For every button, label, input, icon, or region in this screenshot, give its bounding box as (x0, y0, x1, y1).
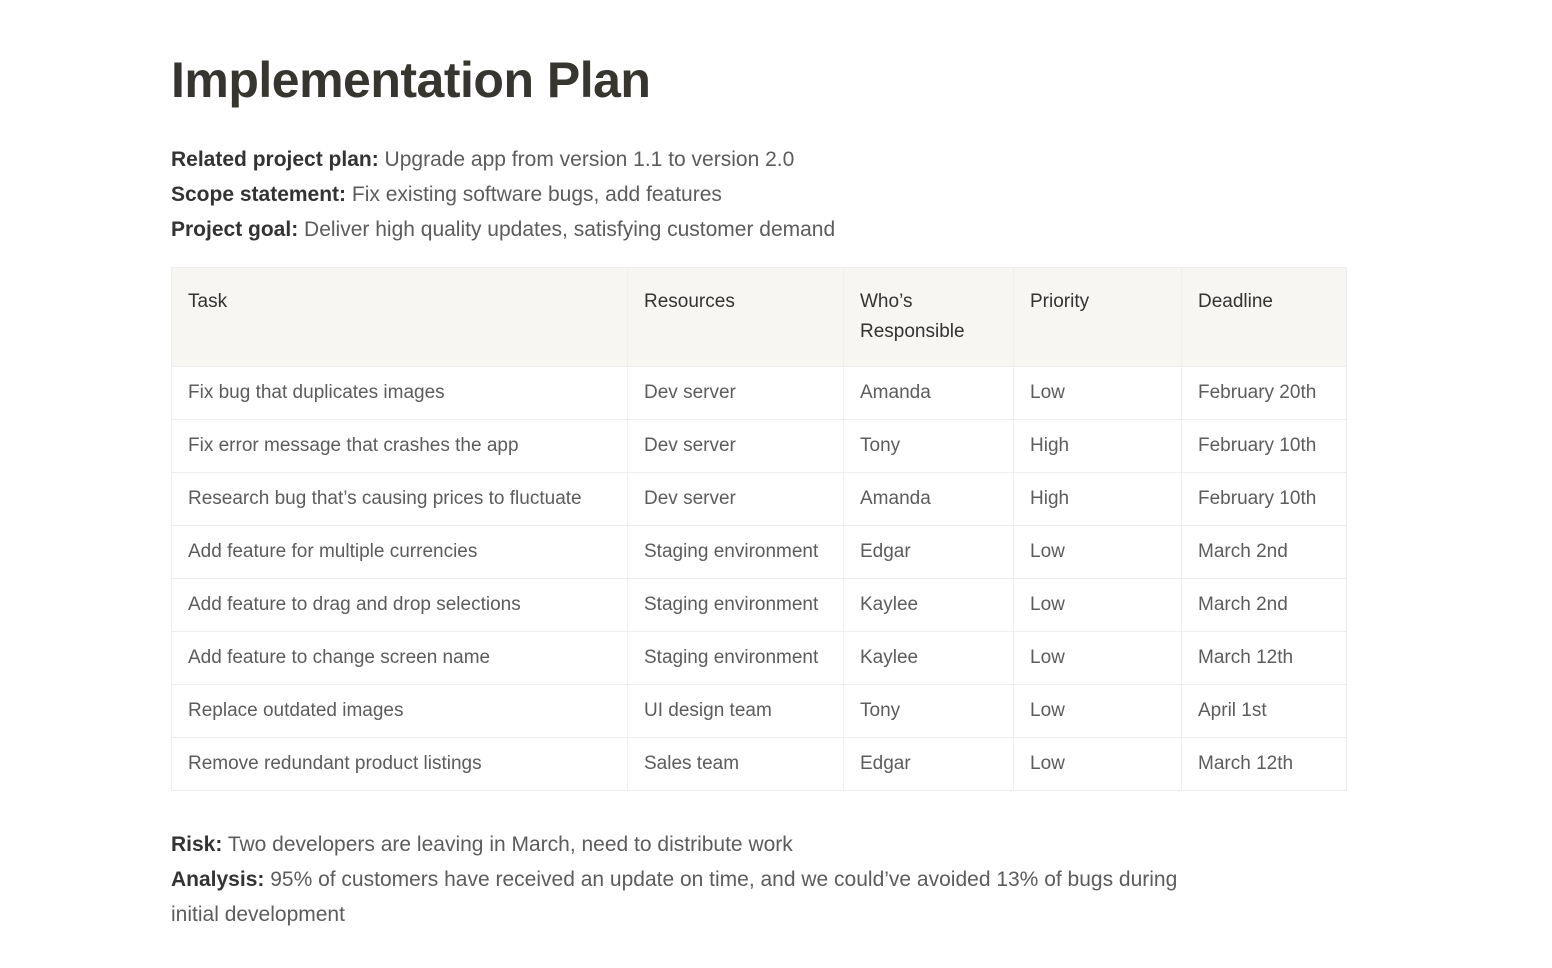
table-row: Remove redundant product listings Sales … (172, 738, 1347, 791)
cell-deadline: February 10th (1182, 420, 1347, 473)
meta-value-scope-statement: Fix existing software bugs, add features (352, 183, 722, 206)
cell-priority: Low (1014, 632, 1182, 685)
cell-deadline: March 12th (1182, 632, 1347, 685)
document-content: Implementation Plan Related project plan… (171, 52, 1411, 932)
table-header-row: Task Resources Who’s Responsible Priorit… (172, 268, 1347, 367)
cell-priority: Low (1014, 738, 1182, 791)
cell-deadline: April 1st (1182, 685, 1347, 738)
cell-resources: UI design team (628, 685, 844, 738)
column-header-deadline: Deadline (1182, 268, 1347, 367)
cell-responsible: Kaylee (844, 632, 1014, 685)
cell-task: Fix error message that crashes the app (172, 420, 628, 473)
column-header-resources-label: Resources (644, 287, 843, 317)
cell-task: Add feature to drag and drop selections (172, 579, 628, 632)
table-row: Add feature to drag and drop selections … (172, 579, 1347, 632)
table-row: Research bug that’s causing prices to fl… (172, 473, 1347, 526)
meta-label-related-project-plan: Related project plan: (171, 148, 379, 171)
table-row: Add feature to change screen name Stagin… (172, 632, 1347, 685)
cell-responsible: Kaylee (844, 579, 1014, 632)
cell-responsible: Amanda (844, 473, 1014, 526)
cell-resources: Staging environment (628, 526, 844, 579)
cell-task: Add feature for multiple currencies (172, 526, 628, 579)
document-notes-block: Risk: Two developers are leaving in Marc… (171, 827, 1216, 932)
cell-resources: Staging environment (628, 579, 844, 632)
cell-priority: Low (1014, 685, 1182, 738)
table-row: Fix error message that crashes the app D… (172, 420, 1347, 473)
cell-deadline: March 2nd (1182, 526, 1347, 579)
meta-value-related-project-plan: Upgrade app from version 1.1 to version … (385, 148, 795, 171)
cell-resources: Sales team (628, 738, 844, 791)
meta-label-scope-statement: Scope statement: (171, 183, 346, 206)
cell-task: Add feature to change screen name (172, 632, 628, 685)
table-row: Replace outdated images UI design team T… (172, 685, 1347, 738)
cell-responsible: Tony (844, 685, 1014, 738)
note-value-risk: Two developers are leaving in March, nee… (228, 833, 793, 856)
cell-deadline: March 2nd (1182, 579, 1347, 632)
meta-value-project-goal: Deliver high quality updates, satisfying… (304, 218, 835, 241)
note-label-analysis: Analysis: (171, 868, 264, 891)
column-header-priority: Priority (1014, 268, 1182, 367)
cell-task: Replace outdated images (172, 685, 628, 738)
column-header-whos-responsible-label: Who’s Responsible (860, 287, 1013, 347)
note-line-analysis: Analysis: 95% of customers have received… (171, 862, 1216, 932)
cell-resources: Dev server (628, 473, 844, 526)
meta-line-related-project-plan: Related project plan: Upgrade app from v… (171, 142, 1411, 177)
page-title: Implementation Plan (171, 52, 1411, 108)
cell-resources: Dev server (628, 420, 844, 473)
cell-deadline: February 20th (1182, 367, 1347, 420)
note-line-risk: Risk: Two developers are leaving in Marc… (171, 827, 1216, 862)
cell-priority: Low (1014, 367, 1182, 420)
cell-responsible: Amanda (844, 367, 1014, 420)
document-meta-block: Related project plan: Upgrade app from v… (171, 142, 1411, 247)
cell-resources: Dev server (628, 367, 844, 420)
column-header-deadline-label: Deadline (1198, 287, 1346, 317)
table-body: Fix bug that duplicates images Dev serve… (172, 367, 1347, 791)
column-header-task: Task (172, 268, 628, 367)
meta-label-project-goal: Project goal: (171, 218, 298, 241)
cell-priority: Low (1014, 579, 1182, 632)
implementation-plan-table: Task Resources Who’s Responsible Priorit… (171, 267, 1347, 791)
cell-responsible: Tony (844, 420, 1014, 473)
cell-task: Fix bug that duplicates images (172, 367, 628, 420)
table-row: Add feature for multiple currencies Stag… (172, 526, 1347, 579)
column-header-whos-responsible: Who’s Responsible (844, 268, 1014, 367)
cell-task: Research bug that’s causing prices to fl… (172, 473, 628, 526)
implementation-plan-table-wrapper: Task Resources Who’s Responsible Priorit… (171, 267, 1346, 791)
column-header-priority-label: Priority (1030, 287, 1181, 317)
cell-resources: Staging environment (628, 632, 844, 685)
note-label-risk: Risk: (171, 833, 222, 856)
cell-priority: High (1014, 420, 1182, 473)
column-header-task-label: Task (188, 287, 627, 317)
note-value-analysis: 95% of customers have received an update… (171, 868, 1177, 926)
cell-deadline: March 12th (1182, 738, 1347, 791)
cell-deadline: February 10th (1182, 473, 1347, 526)
cell-priority: High (1014, 473, 1182, 526)
cell-priority: Low (1014, 526, 1182, 579)
cell-task: Remove redundant product listings (172, 738, 628, 791)
table-header: Task Resources Who’s Responsible Priorit… (172, 268, 1347, 367)
table-row: Fix bug that duplicates images Dev serve… (172, 367, 1347, 420)
cell-responsible: Edgar (844, 738, 1014, 791)
meta-line-project-goal: Project goal: Deliver high quality updat… (171, 212, 1411, 247)
column-header-resources: Resources (628, 268, 844, 367)
meta-line-scope-statement: Scope statement: Fix existing software b… (171, 177, 1411, 212)
document-page: Implementation Plan Related project plan… (0, 0, 1552, 968)
cell-responsible: Edgar (844, 526, 1014, 579)
